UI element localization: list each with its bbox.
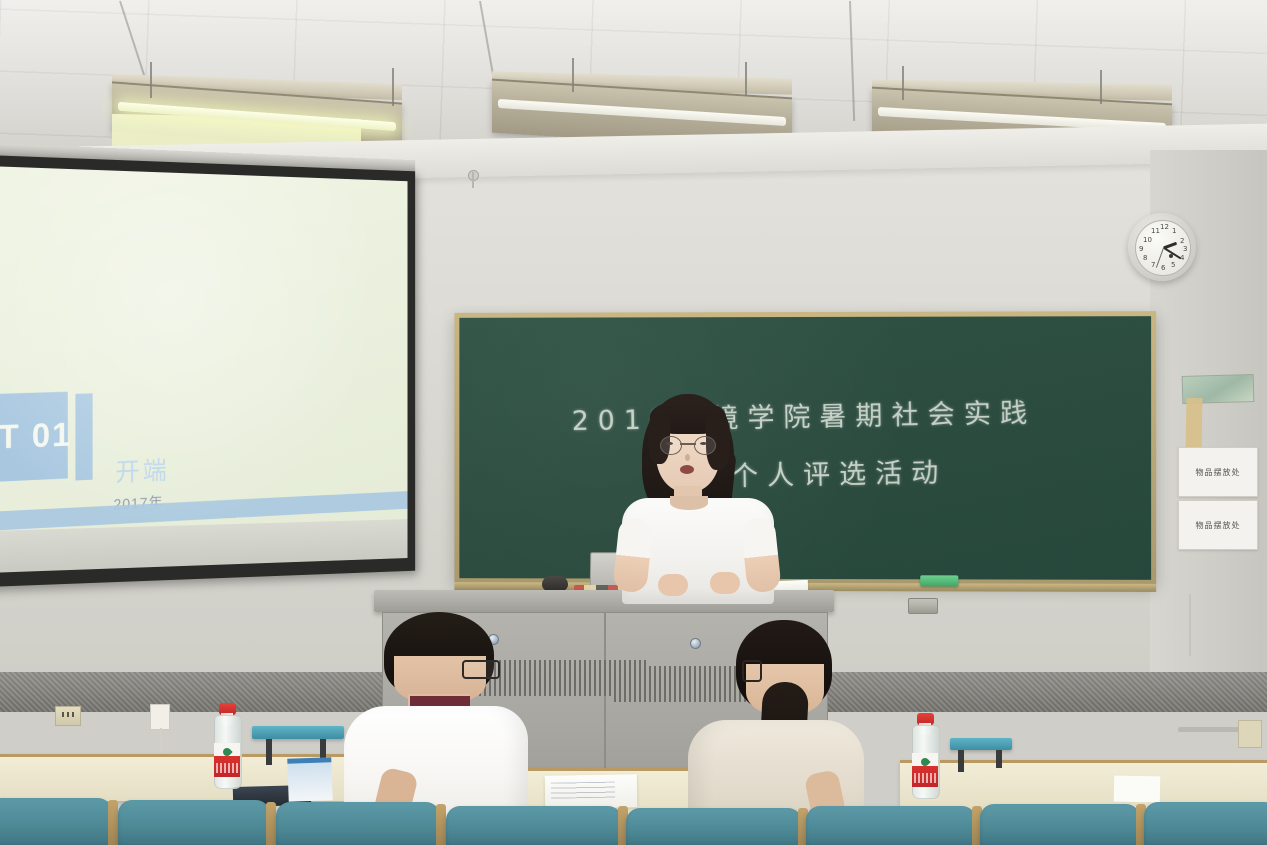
clock-numeral-6: 6	[1161, 264, 1165, 272]
chalkboard: 2018环境学院暑期社会实践 先进个人评选活动	[454, 311, 1156, 585]
seat-front-2[interactable]	[118, 800, 270, 845]
wall-junction-box	[150, 704, 170, 730]
clock-numeral-10: 10	[1143, 236, 1152, 244]
clock-numeral-9: 9	[1139, 245, 1143, 253]
glasses-lens-right	[694, 436, 716, 455]
light-hanger-rod	[745, 62, 747, 96]
clock-numeral-11: 11	[1151, 227, 1160, 235]
bottle-label-text	[914, 773, 936, 783]
clock-numeral-8: 8	[1143, 254, 1147, 262]
seat-front-6[interactable]	[806, 806, 976, 845]
seat-divider	[266, 802, 276, 845]
clock-numeral-2: 2	[1180, 237, 1184, 245]
seat-front-5[interactable]	[626, 808, 802, 845]
glasses-bridge	[680, 443, 696, 445]
light-hanger-rod	[150, 62, 152, 98]
chalkboard-surface: 2018环境学院暑期社会实践 先进个人评选活动	[459, 316, 1151, 580]
stool-right-top	[950, 738, 1012, 750]
light-hanger-rod	[572, 58, 574, 92]
clock-numeral-5: 5	[1171, 261, 1175, 269]
clock-numeral-12: 12	[1160, 223, 1169, 231]
seat-front-3[interactable]	[276, 802, 440, 845]
papers-on-desk[interactable]	[545, 774, 638, 809]
clock-center-pin	[1169, 254, 1173, 258]
student-right-glasses	[742, 660, 762, 682]
classroom-scene: RT 01 开端 2017年 2018环境学院暑期社会实践 先进个人评选活动 物…	[0, 0, 1267, 845]
wall-cord	[160, 728, 162, 754]
stool-right-leg	[958, 750, 964, 772]
clock-numeral-3: 3	[1183, 245, 1187, 253]
screen-surface: RT 01 开端 2017年	[0, 166, 408, 573]
presenter	[618, 392, 778, 602]
hanging-cord	[1189, 594, 1191, 656]
presenter-collar	[670, 496, 708, 510]
power-outlet[interactable]	[1238, 720, 1262, 748]
student-right	[688, 620, 878, 830]
presenter-arm-right	[740, 516, 782, 593]
screen-pull-cord[interactable]	[472, 172, 474, 188]
bottle-label-text	[216, 763, 238, 773]
wall-sign-2: 物品摆放处	[1178, 500, 1258, 550]
stool-left-leg	[266, 739, 272, 765]
paper-text-lines	[551, 782, 615, 799]
seat-front-1[interactable]	[0, 798, 112, 845]
presenter-hand-left	[658, 574, 688, 596]
clock-numeral-7: 7	[1151, 261, 1155, 269]
student-left-glasses	[462, 660, 500, 679]
light-hanger-rod	[392, 68, 394, 106]
wall-bracket	[908, 598, 938, 614]
glasses-icon	[658, 436, 718, 453]
presenter-hand-right	[710, 572, 740, 594]
clock-face: 12 1 2 3 4 5 6 7 8 9 10 11	[1135, 220, 1191, 276]
light-hanger-rod	[902, 66, 904, 100]
power-outlet[interactable]	[55, 706, 81, 726]
slide-accent-bar	[75, 393, 92, 480]
wall-sign-1: 物品摆放处	[1178, 447, 1258, 497]
seat-front-4[interactable]	[446, 806, 622, 845]
seat-front-7[interactable]	[980, 804, 1140, 845]
water-bottle-left[interactable]	[214, 703, 240, 789]
masking-tape	[1186, 398, 1203, 448]
presenter-mouth	[680, 465, 694, 474]
seat-front-8[interactable]	[1144, 802, 1267, 845]
slide-part-label: RT 01	[0, 416, 72, 459]
chalkboard-eraser[interactable]	[920, 575, 958, 586]
clock-numeral-1: 1	[1172, 227, 1176, 235]
computer-mouse[interactable]	[542, 576, 568, 591]
slide-heading: 开端	[115, 451, 169, 489]
light-hanger-rod	[1100, 70, 1102, 104]
water-bottle-right[interactable]	[912, 713, 938, 799]
wall-clock: 12 1 2 3 4 5 6 7 8 9 10 11	[1128, 213, 1196, 281]
seat-divider	[436, 804, 446, 845]
projector-screen: RT 01 开端 2017年	[0, 155, 415, 587]
stool-right-leg	[996, 750, 1002, 768]
glasses-lens-left	[660, 436, 682, 455]
student-left	[322, 612, 528, 827]
seat-divider	[108, 800, 118, 845]
presenter-nose	[685, 454, 690, 461]
paper-right[interactable]	[1114, 776, 1160, 803]
